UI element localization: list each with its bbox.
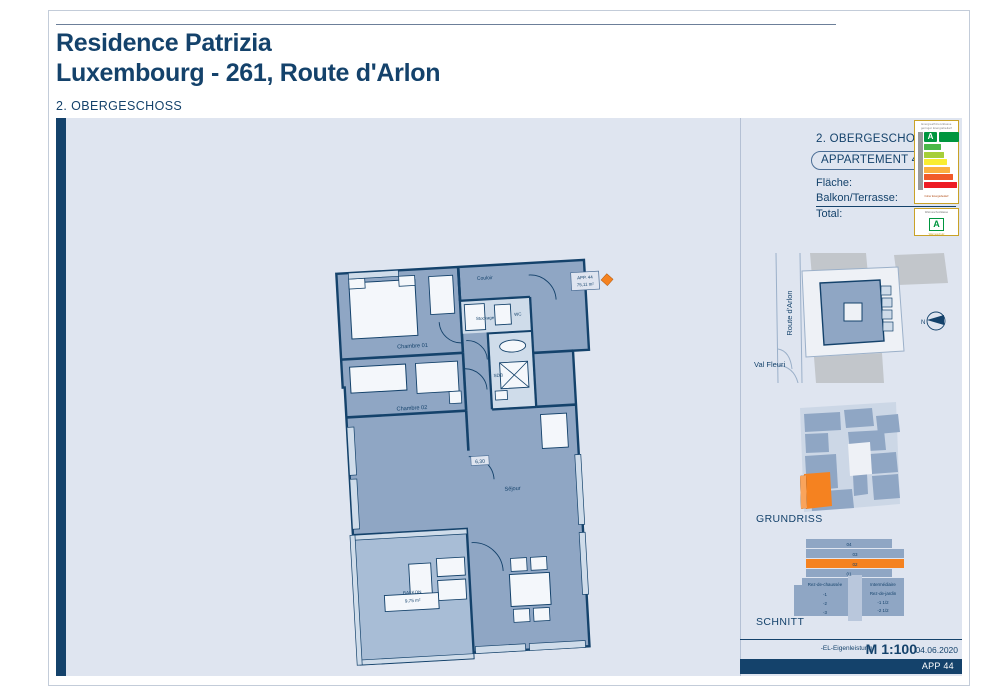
energy-bottom-caption: hoher Energiebedarf: [915, 195, 958, 198]
title-divider: [56, 24, 836, 25]
room-label-wc: WC: [514, 311, 522, 316]
footer-app-bar: APP 44: [740, 659, 962, 674]
energy-rating-letter: A: [924, 132, 937, 142]
sitemap-street-second: Val Fleuri: [754, 360, 785, 369]
energy-scale: A: [918, 132, 955, 194]
schnitt-level-04: 04: [846, 542, 852, 547]
drawing-canvas: APP. 44 75,11 m² 6,30 Chambre 01 Chambre…: [56, 118, 962, 676]
schnitt-rez-de-jardin: Rez-de-jardin: [870, 591, 897, 596]
compass-north-letter: N: [921, 320, 925, 326]
balcony-area: 9,75 m²: [405, 598, 421, 604]
energy-bar-f: [924, 174, 953, 180]
energy-rating-chip: [939, 132, 959, 142]
sitemap-street-main: Route d'Arlon: [785, 290, 794, 335]
schnitt-right-level-1: -1 1/2: [877, 600, 889, 605]
energy-efficiency-badge: Energieeffizienzklasse geringer Energieb…: [914, 120, 959, 204]
title-line-1: Residence Patrizia: [56, 28, 756, 58]
thermal-header: Wärmeschutzklasse: [915, 211, 958, 214]
schnitt-key: 04 03 02 01 Rez-de-chaussée Intermédiair…: [748, 533, 962, 631]
site-map: Route d'Arlon Val Fleuri N: [748, 253, 962, 383]
schnitt-label: SCHNITT: [756, 616, 804, 628]
page-title: Residence Patrizia Luxembourg - 261, Rou…: [56, 28, 756, 88]
schnitt-left-level-3: -3: [823, 610, 827, 615]
energy-bar-g: [924, 182, 957, 188]
energy-top-caption: geringer Energiebedarf: [915, 127, 958, 130]
entry-marker-area: 75,11 m²: [577, 281, 595, 287]
area-label: Fläche:: [816, 176, 852, 191]
energy-bar-b: [924, 144, 941, 150]
info-panel: 2. OBERGESCHOSS APPARTEMENT 44 Fläche: 7…: [740, 118, 962, 676]
schnitt-left-level-1: -1: [823, 592, 827, 597]
schnitt-right-level-2: -2 1/2: [877, 608, 889, 613]
energy-bar-e: [924, 167, 950, 173]
energy-bar-d: [924, 159, 947, 165]
footer-info: -EL-Eigenleistung M 1:100 04.06.2020: [740, 642, 962, 658]
area-label: Balkon/Terrasse:: [816, 191, 898, 206]
schnitt-level-02: 02: [852, 562, 858, 567]
schnitt-level-01: 01: [846, 572, 852, 577]
canvas-accent-bar: [56, 118, 66, 676]
page-subtitle: 2. OBERGESCHOSS: [56, 99, 182, 113]
balcony-label: BALKON: [403, 590, 422, 596]
entry-marker-label: APP. 44: [577, 274, 593, 280]
room-label-sejour: Séjour: [504, 486, 521, 493]
grundriss-key: GRUNDRISS: [748, 396, 962, 528]
thermal-class-badge: Wärmeschutzklasse A Wärmeschutz: [914, 208, 959, 236]
grundriss-label: GRUNDRISS: [756, 513, 823, 525]
room-label-stockage: Stockage: [476, 315, 495, 321]
room-label-sdb: SDB: [493, 373, 503, 379]
floor-plan-drawing: APP. 44 75,11 m² 6,30 Chambre 01 Chambre…: [70, 118, 740, 676]
dimension-label: 6,30: [475, 459, 485, 466]
schnitt-level-03: 03: [852, 552, 858, 557]
room-label-couloir: Couloir: [477, 275, 493, 282]
thermal-rating-letter: A: [929, 218, 944, 231]
footer-divider: [740, 639, 962, 640]
energy-header: Energieeffizienzklasse: [915, 123, 958, 126]
footer-date: 04.06.2020: [915, 645, 958, 655]
area-label: Total:: [816, 207, 842, 222]
energy-grey-bar: [918, 132, 923, 190]
footer-app-tag: APP 44: [922, 661, 954, 671]
title-line-2: Luxembourg - 261, Route d'Arlon: [56, 58, 756, 88]
footer-scale: M 1:100: [866, 641, 917, 657]
schnitt-left-level-2: -2: [823, 601, 827, 606]
schnitt-rez-de-chaussee: Rez-de-chaussée: [808, 582, 843, 587]
thermal-footer: Wärmeschutz: [915, 233, 958, 236]
energy-bar-c: [924, 152, 944, 158]
footer-el-note: -EL-Eigenleistung: [821, 645, 872, 652]
schnitt-intermediaire: Intermédiaire: [870, 582, 896, 587]
floorplan-document: Residence Patrizia Luxembourg - 261, Rou…: [0, 0, 990, 700]
